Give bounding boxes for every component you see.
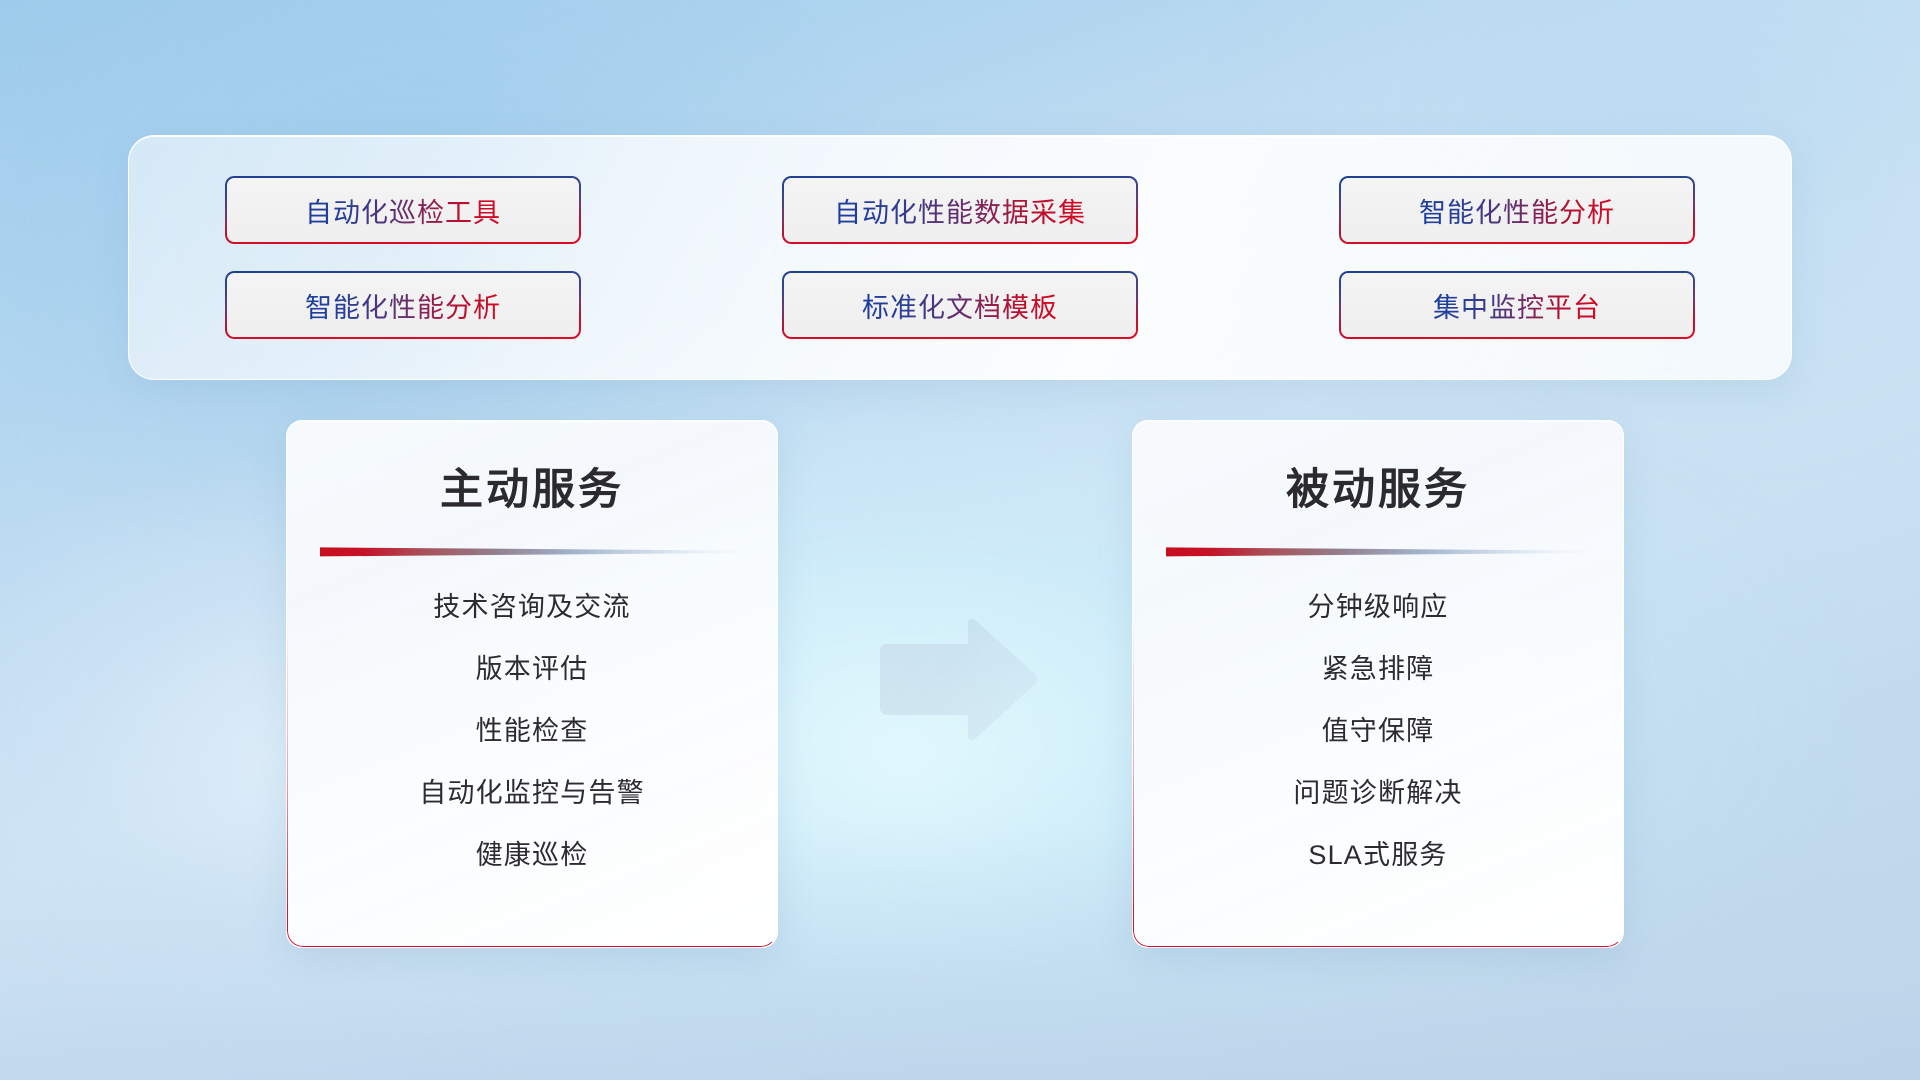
title-divider-wedge xyxy=(320,545,744,557)
service-card-title: 主动服务 xyxy=(287,455,777,517)
service-list-item: 分钟级响应 xyxy=(1308,585,1449,624)
capability-pill-automated-inspection-tool[interactable]: 自动化巡检工具 xyxy=(225,176,581,244)
capability-pill-centralized-monitoring-platform[interactable]: 集中监控平台 xyxy=(1339,271,1695,339)
slide-stage: 自动化巡检工具 自动化性能数据采集 智能化性能分析 智能化性能分析 xyxy=(0,0,1920,1080)
capability-panel: 自动化巡检工具 自动化性能数据采集 智能化性能分析 智能化性能分析 xyxy=(128,135,1792,380)
capability-row-2: 智能化性能分析 标准化文档模板 集中监控平台 xyxy=(225,271,1695,339)
service-list-item: 版本评估 xyxy=(476,647,589,686)
capability-pill-surface: 自动化性能数据采集 xyxy=(784,178,1136,242)
service-list-item: 性能检查 xyxy=(476,709,589,748)
service-card-list: 分钟级响应 紧急排障 值守保障 问题诊断解决 SLA式服务 xyxy=(1133,585,1623,872)
capability-pill-standardized-document-template[interactable]: 标准化文档模板 xyxy=(782,271,1138,339)
capability-pill-label: 集中监控平台 xyxy=(1433,286,1601,325)
capability-pill-intelligent-performance-analysis-a[interactable]: 智能化性能分析 xyxy=(1339,176,1695,244)
service-list-item: 问题诊断解决 xyxy=(1293,771,1462,810)
service-list-item: 自动化监控与告警 xyxy=(419,771,645,810)
capability-pill-surface: 智能化性能分析 xyxy=(227,273,579,337)
service-card-title: 被动服务 xyxy=(1133,455,1623,517)
capability-pill-surface: 标准化文档模板 xyxy=(784,273,1136,337)
capability-pill-automated-performance-data-collection[interactable]: 自动化性能数据采集 xyxy=(782,176,1138,244)
service-list-item: SLA式服务 xyxy=(1308,833,1447,872)
capability-pill-label: 自动化性能数据采集 xyxy=(834,191,1086,230)
service-card-passive[interactable]: 被动服务 分钟级响应 紧急排障 xyxy=(1132,420,1624,948)
service-card-list: 技术咨询及交流 版本评估 性能检查 自动化监控与告警 健康巡检 xyxy=(287,585,777,872)
arrow-right-icon xyxy=(874,615,1040,745)
service-card-active[interactable]: 主动服务 技术咨询及交流 版本评估 xyxy=(286,420,778,948)
service-list-item: 紧急排障 xyxy=(1322,647,1435,686)
capability-pill-surface: 自动化巡检工具 xyxy=(227,178,579,242)
service-list-item: 技术咨询及交流 xyxy=(433,585,630,624)
capability-pill-label: 智能化性能分析 xyxy=(305,286,501,325)
capability-row-1: 自动化巡检工具 自动化性能数据采集 智能化性能分析 xyxy=(225,176,1695,244)
service-list-item: 健康巡检 xyxy=(476,833,589,872)
capability-pill-label: 智能化性能分析 xyxy=(1419,191,1615,230)
title-divider-wedge xyxy=(1166,545,1590,557)
capability-pill-surface: 集中监控平台 xyxy=(1341,273,1693,337)
capability-pill-label: 自动化巡检工具 xyxy=(305,191,501,230)
capability-pill-intelligent-performance-analysis-b[interactable]: 智能化性能分析 xyxy=(225,271,581,339)
service-list-item: 值守保障 xyxy=(1322,709,1435,748)
capability-pill-surface: 智能化性能分析 xyxy=(1341,178,1693,242)
capability-pill-label: 标准化文档模板 xyxy=(862,286,1058,325)
